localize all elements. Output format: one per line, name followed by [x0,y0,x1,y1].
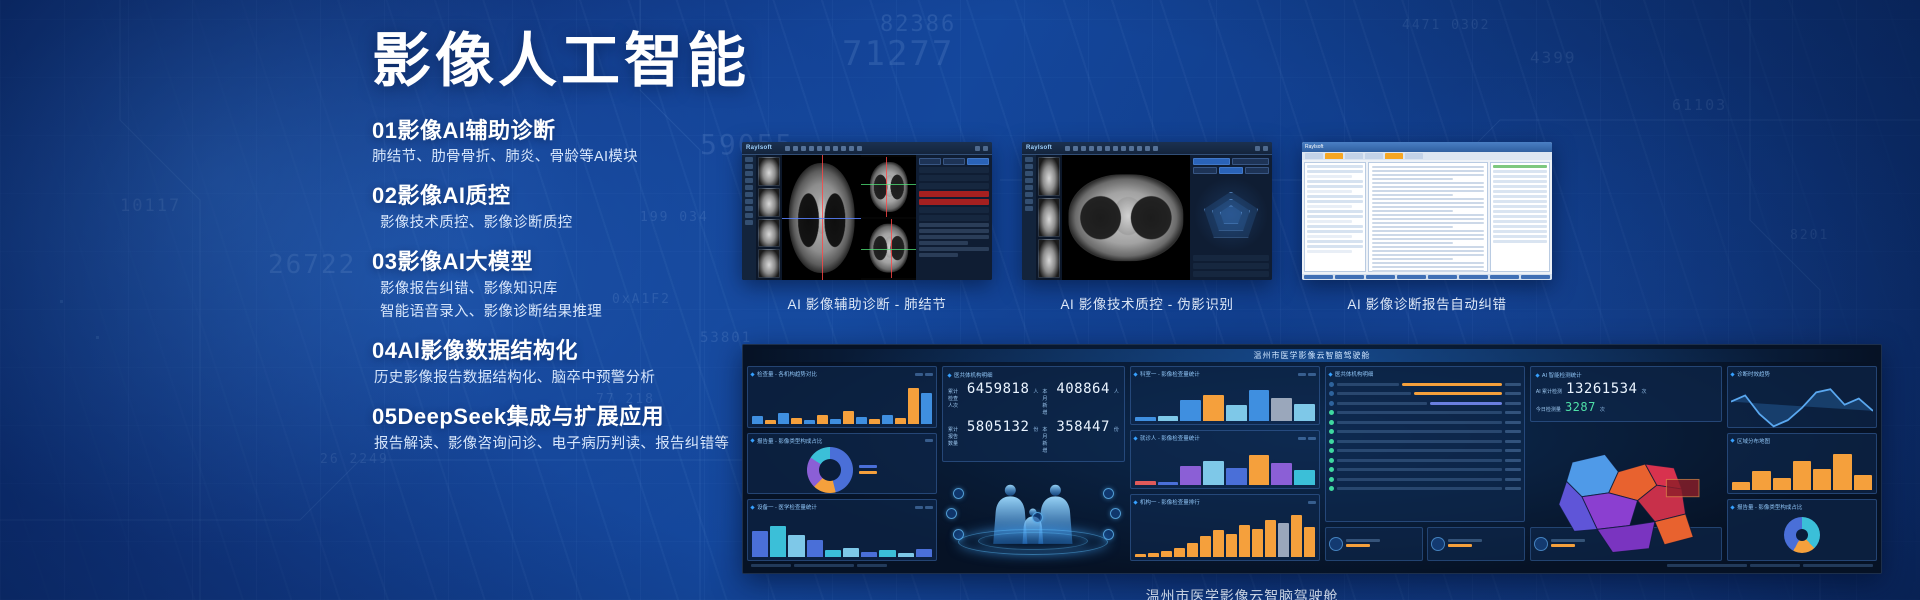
findings-panel [916,155,992,280]
screenshot-ct-qc-radar: RayIsoft [1022,142,1272,280]
window-controls [1255,146,1268,151]
kpi-unit: 人 [1114,388,1119,395]
kpi-value: 6459818 [967,381,1030,397]
panel-device-stats[interactable]: 设备一 - 医学检查量统计 [747,499,937,561]
kpi-unit: 人 [1033,388,1038,395]
bar-chart [1134,444,1316,485]
card-caption: AI 影像辅助诊断 - 肺结节 [742,293,992,313]
panel-header: 报告量 - 影像类型构成占比 [1731,503,1873,511]
report-document[interactable] [1368,162,1488,272]
kpi-row: 累计报告数量 5805132 份 本月新增 358447 份 [948,419,1119,454]
kpi-unit: 份 [1114,426,1119,433]
ministat-report-time[interactable] [1325,527,1423,561]
toolbar-icons [1065,146,1158,151]
list-item[interactable] [1329,428,1521,436]
panel-human-visual [942,467,1125,561]
kpi-unit: 份 [1033,426,1038,433]
bar-chart [1134,508,1316,557]
panel-header: AI 智能检测统计 [1536,371,1716,379]
list-item[interactable] [1329,418,1521,426]
kpi-value: 3287 [1565,400,1596,414]
dashboard-block[interactable]: 温州市医学影像云智脑驾驶舱 检查量 - 各机构趋势对比 [742,344,1882,600]
hologram-figures [942,467,1125,561]
image-viewport [1062,155,1190,280]
kpi-value: 13261534 [1566,381,1637,397]
series-thumbnails [756,155,782,280]
panel-header: 检查量 - 各机构趋势对比 [751,370,933,378]
clock-icon [1329,537,1343,551]
panel-medical-union-list[interactable]: 医共体机构明细 [1325,366,1525,522]
panel-donut-secondary[interactable]: 报告量 - 影像类型构成占比 [1727,499,1877,561]
tab-strip[interactable] [1302,152,1552,160]
left-toolrail [742,155,756,280]
panel-header: 科室一 - 影像检查量统计 [1134,370,1316,378]
panel-ai-detection[interactable]: AI 智能检测统计 AI 累计检测 13261534 次 今日检测量 3287 … [1530,366,1722,422]
panel-header: 诊断时效趋势 [1731,370,1873,378]
status-bar [1302,274,1552,280]
donut-chart [1731,513,1873,557]
list-item[interactable] [1329,399,1521,407]
alert-row [919,191,989,197]
panel-region-map[interactable] [1530,427,1722,522]
chart-icon [1431,537,1445,551]
dashboard-title: 温州市医学影像云智脑驾驶舱 [747,349,1877,362]
choropleth-map [1530,427,1722,574]
kpi-label: 本月新增 [1042,388,1052,416]
donut-legend [859,465,877,474]
app-titlebar: RayIsoft [742,142,992,155]
banner-root: 82386 71277 59055 26722 10117 4399 61103… [0,0,1920,600]
screenshot-dashboard: 温州市医学影像云智脑驾驶舱 检查量 - 各机构趋势对比 [742,344,1882,574]
kpi-row: 累计检查人次 6459818 人 本月新增 408864 人 [948,381,1119,416]
image-viewport [782,155,916,280]
panel-dept-stats[interactable]: 科室一 - 影像检查量统计 [1130,366,1320,425]
bar-chart [1134,380,1316,421]
list-item[interactable] [1329,475,1521,483]
alert-row [919,199,989,205]
ct-sagittal-view [861,219,916,279]
screenshot-cards-row: RayIsoft [742,142,1882,313]
kpi-unit: 次 [1641,388,1646,395]
list-item[interactable] [1329,466,1521,474]
ranking-list[interactable] [1329,380,1521,518]
screenshot-report-editor: RayIsoft [1302,142,1552,280]
app-titlebar: RayIsoft [1302,142,1552,152]
correction-suggestions-panel[interactable] [1490,162,1550,272]
card-ai-diagnosis[interactable]: RayIsoft [742,142,992,313]
app-logo: RayIsoft [1026,145,1052,151]
panel-header: 设备一 - 医学检查量统计 [751,503,933,511]
list-item[interactable] [1329,409,1521,417]
donut-chart [751,447,933,493]
app-logo: RayIsoft [746,145,772,151]
dashboard-caption: 温州市医学影像云智脑驾驶舱 [602,586,1882,600]
panel-header: 报告量 - 影像类型构成占比 [751,437,933,445]
panel-institution-trend[interactable]: 检查量 - 各机构趋势对比 [747,366,937,428]
screenshot-ct-nodule-viewer: RayIsoft [742,142,992,280]
kpi-label: 累计报告数量 [948,426,963,447]
list-item[interactable] [1329,456,1521,464]
window-controls [975,146,988,151]
bar-chart [751,513,933,557]
line-chart [1731,380,1873,442]
panel-report-composition[interactable]: 报告量 - 影像类型构成占比 [747,433,937,495]
kpi-unit: 次 [1600,406,1605,413]
panel-header: 医共体机构明细 [1329,370,1521,378]
panel-kpi-summary[interactable]: 医共体机构明细 累计检查人次 6459818 人 本月新增 408864 人 [942,366,1125,462]
panel-timeliness-trend[interactable]: 诊断时效趋势 [1727,366,1877,428]
ministat-positive-rate[interactable] [1427,527,1525,561]
panel-header: 医共体机构明细 [948,371,1119,379]
bar-chart [751,380,933,424]
toolbar-icons [785,146,862,151]
kpi-label: 今日检测量 [1536,406,1561,413]
kpi-row: 今日检测量 3287 次 [1536,400,1716,414]
map-tooltip [1666,479,1699,496]
panel-header: 机构一 - 影像检查量排行 [1134,498,1316,506]
left-toolrail [1022,155,1036,280]
ct-axial-view [782,155,861,280]
kpi-label: AI 累计检测 [1536,388,1562,395]
card-caption: AI 影像诊断报告自动纠错 [1302,293,1552,313]
radar-chart [1193,178,1269,251]
card-report-autocorrect[interactable]: RayIsoft [1302,142,1552,313]
bar-chart [1731,447,1873,491]
navigation-tree[interactable] [1304,162,1366,272]
media-column: RayIsoft [742,142,1882,600]
panel-institution-ranking[interactable]: 机构一 - 影像检查量排行 [1130,494,1320,561]
app-titlebar: RayIsoft [1022,142,1272,155]
list-item[interactable] [1329,437,1521,445]
series-thumbnails [1036,155,1062,280]
qc-score-panel [1190,155,1272,280]
kpi-value: 5805132 [967,419,1030,435]
mini-stats-row [1325,527,1525,561]
app-logo: RayIsoft [1305,144,1323,150]
kpi-value: 358447 [1056,419,1110,435]
list-item[interactable] [1329,447,1521,455]
page-title: 影像人工智能 [372,30,842,93]
ct-axial-view [1062,155,1190,280]
panel-visit-stats[interactable]: 就诊人 - 影像检查量统计 [1130,430,1320,489]
kpi-value: 408864 [1056,381,1110,397]
list-item[interactable] [1329,390,1521,398]
list-item[interactable] [1329,485,1521,493]
card-ai-quality-control[interactable]: RayIsoft [1022,142,1272,313]
panel-header: 就诊人 - 影像检查量统计 [1134,434,1316,442]
kpi-label: 累计检查人次 [948,388,963,409]
kpi-row: AI 累计检测 13261534 次 [1536,381,1716,397]
kpi-label: 本月新增 [1042,426,1052,454]
card-caption: AI 影像技术质控 - 伪影识别 [1022,293,1272,313]
list-item[interactable] [1329,380,1521,388]
ct-coronal-view [861,157,916,217]
